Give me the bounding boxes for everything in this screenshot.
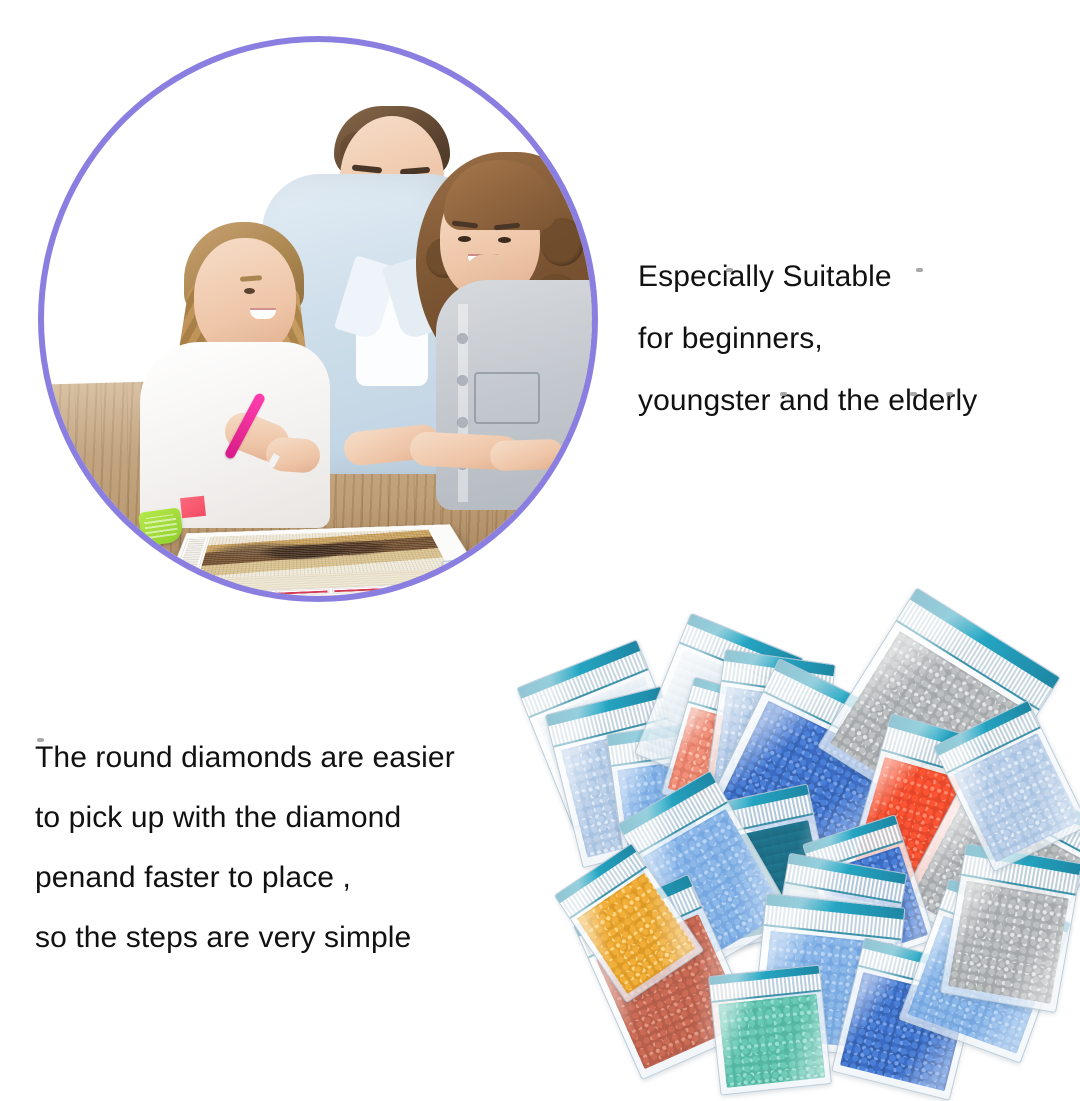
watermark-speck — [946, 392, 953, 396]
caption-line: Especially Suitable — [638, 246, 1058, 308]
caption-line: to pick up with the diamond — [35, 788, 535, 848]
caption-line: penand faster to place , — [35, 848, 535, 908]
caption-line: so the steps are very simple — [35, 908, 535, 968]
legend-chip — [217, 591, 272, 596]
sticky-wax-square — [180, 496, 206, 518]
product-feature-page: Especially Suitable for beginners, young… — [0, 0, 1080, 1080]
legend-chip — [387, 584, 441, 590]
watermark-speck — [916, 268, 923, 272]
girl-eye — [244, 288, 255, 294]
family-photo — [44, 42, 592, 596]
mother-eye-right — [498, 237, 511, 243]
watermark-speck — [910, 392, 917, 396]
bead-fill — [718, 994, 825, 1088]
shirt-button — [458, 376, 467, 385]
caption-line: The round diamonds are easier — [35, 728, 535, 788]
mother-hand — [489, 439, 564, 472]
round-diamonds-caption: The round diamonds are easier to pick up… — [35, 728, 535, 968]
shirt-button — [458, 334, 467, 343]
bead-bag — [940, 843, 1080, 1013]
mother-eye-left — [458, 236, 471, 242]
diamond-painting-canvas — [159, 524, 490, 596]
shirt-button — [458, 418, 467, 427]
watermark-speck — [780, 392, 787, 396]
caption-line: for beginners, — [638, 308, 1058, 370]
circle-photo-frame — [38, 36, 598, 602]
mother-shirt-pocket — [474, 372, 540, 424]
bead-bag — [708, 964, 832, 1095]
legend-chip — [275, 589, 329, 595]
diamond-packet — [535, 538, 585, 577]
diamond-bead-bags-pile — [528, 600, 1080, 1078]
bead-fill — [948, 881, 1069, 1004]
especially-suitable-caption: Especially Suitable for beginners, young… — [638, 246, 1058, 432]
watermark-speck — [726, 268, 733, 272]
legend-chip — [332, 586, 386, 592]
watermark-speck — [37, 738, 44, 742]
caption-line: youngster and the elderly — [638, 370, 1058, 432]
